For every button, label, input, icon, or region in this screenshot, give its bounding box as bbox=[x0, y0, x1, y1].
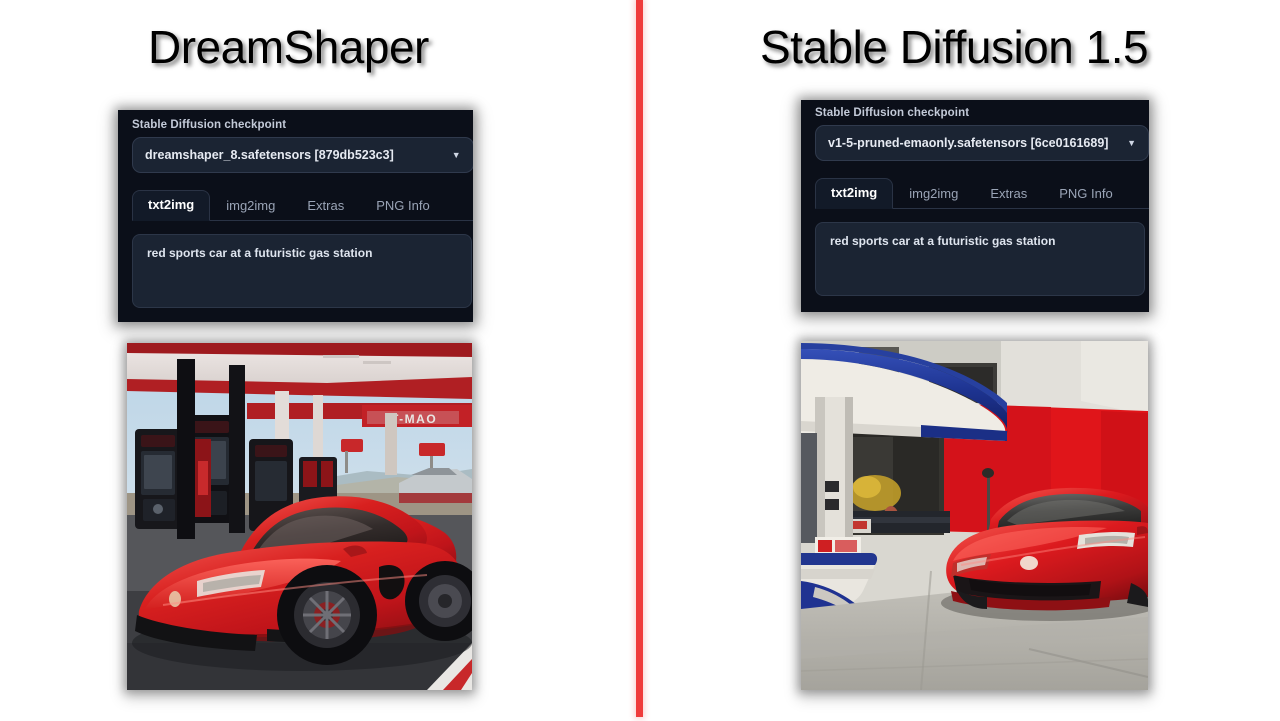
checkpoint-dropdown-right[interactable]: v1-5-pruned-emaonly.safetensors [6ce0161… bbox=[815, 125, 1149, 161]
tab-png-info-left[interactable]: PNG Info bbox=[360, 193, 445, 220]
comparison-slide: DreamShaper Stable Diffusion 1.5 Stable … bbox=[0, 0, 1280, 721]
prompt-input-left[interactable]: red sports car at a futuristic gas stati… bbox=[132, 234, 472, 308]
panel-title-left: DreamShaper bbox=[148, 20, 429, 74]
prompt-text-right: red sports car at a futuristic gas stati… bbox=[830, 234, 1130, 248]
webui-screenshot-left: Stable Diffusion checkpoint dreamshaper_… bbox=[118, 110, 473, 322]
tabbar-right: txt2img img2img Extras PNG Info bbox=[815, 177, 1149, 209]
tab-extras-left[interactable]: Extras bbox=[291, 193, 360, 220]
tab-extras-right[interactable]: Extras bbox=[974, 181, 1043, 208]
tab-img2img-left[interactable]: img2img bbox=[210, 193, 291, 220]
chevron-down-icon: ▼ bbox=[1117, 139, 1136, 148]
tab-txt2img-left[interactable]: txt2img bbox=[132, 190, 210, 221]
webui-screenshot-right: Stable Diffusion checkpoint v1-5-pruned-… bbox=[801, 100, 1149, 312]
svg-text:T-MAO: T-MAO bbox=[391, 412, 437, 426]
tab-png-info-right[interactable]: PNG Info bbox=[1043, 181, 1128, 208]
generated-image-right bbox=[801, 341, 1148, 690]
chevron-down-icon: ▼ bbox=[442, 151, 461, 160]
generated-image-left-art: T-MAO bbox=[127, 343, 472, 690]
prompt-text-left: red sports car at a futuristic gas stati… bbox=[147, 246, 457, 260]
prompt-input-right[interactable]: red sports car at a futuristic gas stati… bbox=[815, 222, 1145, 296]
tab-img2img-right[interactable]: img2img bbox=[893, 181, 974, 208]
generated-image-right-art bbox=[801, 341, 1148, 690]
tabbar-left: txt2img img2img Extras PNG Info bbox=[132, 189, 473, 221]
tab-txt2img-right[interactable]: txt2img bbox=[815, 178, 893, 209]
panel-title-right: Stable Diffusion 1.5 bbox=[760, 20, 1148, 74]
center-divider bbox=[636, 0, 643, 717]
checkpoint-label-right: Stable Diffusion checkpoint bbox=[815, 100, 1149, 125]
generated-image-left: T-MAO bbox=[127, 343, 472, 690]
checkpoint-label-left: Stable Diffusion checkpoint bbox=[132, 110, 473, 137]
checkpoint-dropdown-left[interactable]: dreamshaper_8.safetensors [879db523c3] ▼ bbox=[132, 137, 473, 173]
checkpoint-value-left: dreamshaper_8.safetensors [879db523c3] bbox=[145, 148, 394, 162]
checkpoint-value-right: v1-5-pruned-emaonly.safetensors [6ce0161… bbox=[828, 136, 1108, 150]
